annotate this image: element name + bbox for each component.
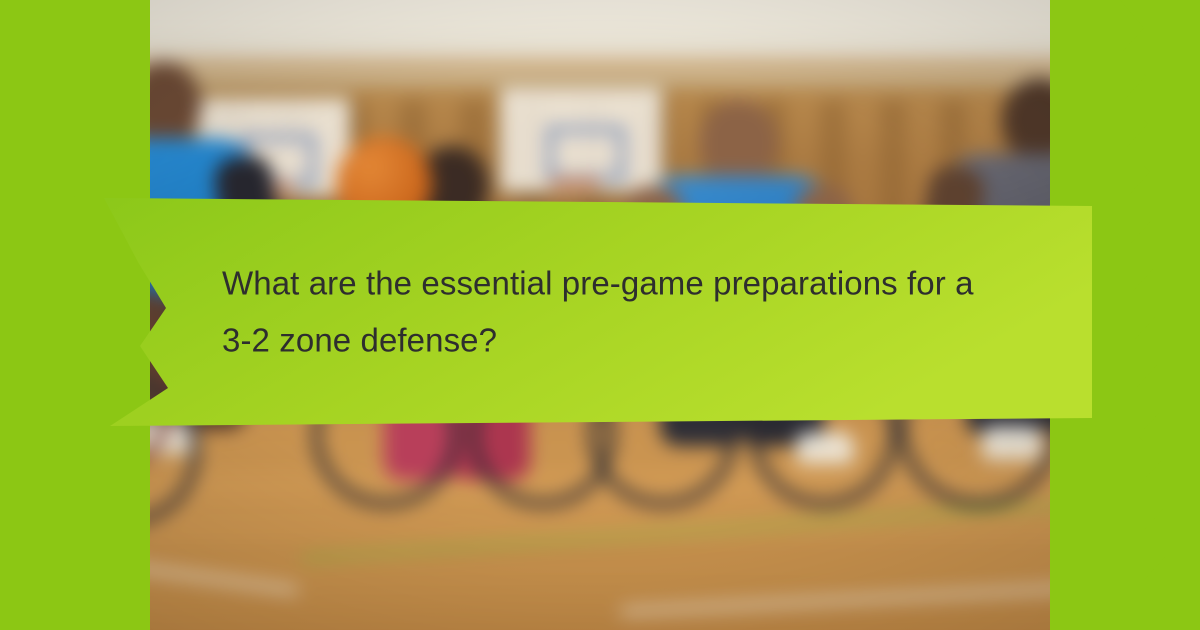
poster-canvas: What are the essential pre-game preparat… [0, 0, 1200, 630]
headline-text: What are the essential pre-game preparat… [222, 255, 1002, 369]
headline-banner: What are the essential pre-game preparat… [104, 196, 1092, 428]
